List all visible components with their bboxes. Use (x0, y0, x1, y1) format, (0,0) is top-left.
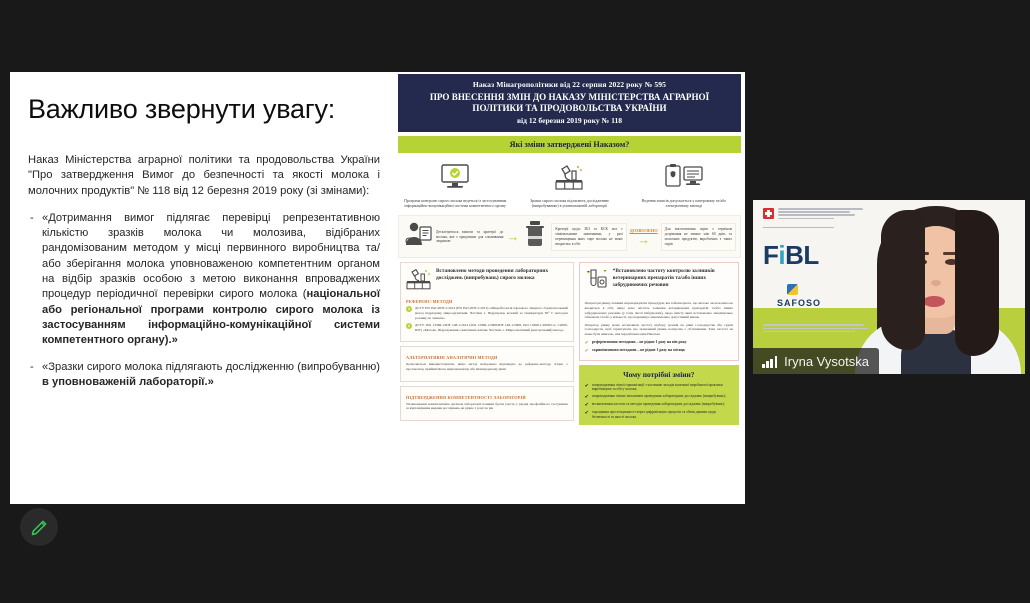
flow-arrow-1: → (506, 230, 519, 243)
flow-box-middle: Критерії щодо ЗБЗ та КСК мог є мінімальн… (551, 223, 626, 250)
infographic-three-columns: Програма контролю сирого молока ведеться… (398, 153, 741, 213)
clipboard-monitor-icon (629, 159, 739, 195)
participant-video-tile[interactable]: FiBL SAFOSO (753, 200, 1025, 374)
check-icon: ✔ (585, 340, 589, 346)
infographic-lower-section: Встановлено методи проведення лабораторн… (398, 262, 741, 425)
presentation-slide: Важливо звернути увагу: Наказ Міністерст… (10, 72, 745, 504)
bullet-text-bold: в уповноваженій лабораторії.» (42, 376, 214, 388)
list-item: 1 ДСТУ EN ISO 4833-1:2014 (EN ISO 4833-1… (406, 306, 568, 320)
frequency-card: *Встановлено частоту контролю залишків в… (579, 262, 739, 360)
infographic-column-3: Ведення записів допускається у паперовом… (629, 159, 739, 209)
monitor-check-icon (400, 159, 510, 195)
signal-bars-icon (762, 355, 777, 368)
infographic-lower-left: Встановлено методи проведення лабораторн… (400, 262, 574, 425)
swiss-confederation-text (778, 208, 868, 221)
methods-card-title: Встановлено методи проведення лабораторн… (436, 268, 568, 282)
nose (931, 280, 941, 286)
slide-bullet-list: «Дотримання вимог підлягає перевірці реп… (28, 211, 380, 390)
frequency-card-header: *Встановлено частоту контролю залишків в… (585, 268, 733, 297)
swiss-confederation-block (763, 208, 868, 221)
infographic-header-line3: від 12 березня 2019 року № 118 (406, 116, 733, 125)
frequency-check-text: скринінговими методами – не рідше 1 разу… (592, 348, 685, 353)
check-icon: ✔ (585, 383, 589, 389)
infographic-flow-row: Деталізуються вимоги та критерії до моло… (398, 215, 741, 258)
list-item: ✔ референтними методами – не рідше 1 раз… (585, 340, 733, 346)
frequency-check-text: референтними методами – не рідше 1 разу … (592, 340, 687, 345)
check-icon: ✔ (585, 394, 589, 400)
allowed-label-group: ДОЗВОЛЕНО → (630, 228, 658, 246)
why-item-text: встановлення частоти та методів проведен… (592, 402, 725, 407)
infographic-header: Наказ Мінагрополітики від 22 серпня 2022… (398, 74, 741, 132)
lab-bench-icon (406, 268, 432, 295)
reference-method-text: ДСТУ ISO 13366-1/IDF 148-1:2014 (ISO 133… (415, 323, 568, 332)
infographic-column-3-caption: Ведення записів допускається у паперовом… (629, 199, 739, 209)
list-item: ✔ спрощення простежуваності через цифров… (585, 410, 733, 419)
frequency-paragraph-2: Оператор ринку може встановити частоту в… (585, 323, 733, 337)
participant-name-label: Iryna Vysotska (784, 354, 869, 369)
methods-card: Встановлено методи проведення лабораторн… (400, 262, 574, 342)
participant-name-badge: Iryna Vysotska (753, 348, 879, 374)
infographic-question-bar: Які зміни затверджені Наказом? (398, 136, 741, 153)
list-item: ✔ запровадження чітких механізмів провед… (585, 394, 733, 400)
slide-intro-paragraph: Наказ Міністерства аграрної політики та … (28, 153, 380, 199)
hair-strand-left (881, 210, 925, 350)
list-item: ✔ запровадження чіткої гармонізації з ча… (585, 383, 733, 392)
why-changes-card: Чому потрібні зміни? ✔ запровадження чіт… (579, 365, 739, 426)
vial-control-icon (585, 268, 609, 297)
alt-methods-heading: АЛЬТЕРНАТИВНІ АНАЛІТИЧНІ МЕТОДИ (406, 355, 568, 360)
list-item: «Дотримання вимог підлягає перевірці реп… (28, 211, 380, 349)
why-changes-title: Чому потрібні зміни? (585, 370, 733, 379)
list-item: «Зразки сирого молока підлягають дослідж… (28, 360, 380, 391)
list-number-badge: 1 (406, 306, 412, 312)
check-icon: ✔ (585, 410, 589, 416)
safoso-mark-icon (787, 284, 798, 295)
frequency-paragraph-1: Оператори ринку повинні впроваджувати пр… (585, 301, 733, 319)
inspector-icon (403, 221, 433, 252)
hair-strand-right (955, 210, 999, 356)
check-icon: ✔ (585, 348, 589, 354)
reference-methods-heading: РЕФЕРЕНС-МЕТОДИ (406, 299, 568, 304)
check-icon: ✔ (585, 402, 589, 408)
bullet-text-plain: «Зразки сирого молока підлягають дослідж… (42, 361, 380, 373)
lab-competence-text: Уповноважені компетентним органом лабора… (406, 402, 568, 411)
program-description-lines (763, 324, 868, 332)
lips (923, 296, 945, 307)
lab-competence-card: ПІДТВЕРДЖЕННЯ КОМПЕТЕНТНОСТІ ЛАБОРАТОРІЙ… (400, 386, 574, 421)
flow-box-right: Для виготовлення сирів з терміном дозрів… (661, 223, 736, 250)
infographic-header-line1: Наказ Мінагрополітики від 22 серпня 2022… (406, 80, 733, 89)
flow-text-left: Деталізуються вимоги та критерії до моло… (436, 230, 503, 244)
infographic-header-line2: ПРО ВНЕСЕННЯ ЗМІН ДО НАКАЗУ МІНІСТЕРСТВА… (406, 92, 733, 114)
safoso-logo: SAFOSO (763, 284, 835, 308)
safoso-wordmark: SAFOSO (763, 298, 835, 308)
pencil-icon (29, 517, 50, 538)
annotate-button[interactable] (20, 508, 58, 546)
list-item: ✔ скринінговими методами – не рідше 1 ра… (585, 348, 733, 354)
milk-can-icon (522, 220, 548, 253)
list-item: ✔ встановлення частоти та методів провед… (585, 402, 733, 408)
list-item: 2 ДСТУ ISO 13366-1/IDF 148-1:2014 (ISO 1… (406, 323, 568, 332)
why-item-text: запровадження чіткої гармонізації з част… (592, 383, 733, 392)
list-number-badge: 2 (406, 323, 412, 329)
meeting-screen-share-view: Важливо звернути увагу: Наказ Міністерст… (0, 0, 1030, 603)
alt-methods-card: АЛЬТЕРНАТИВНІ АНАЛІТИЧНІ МЕТОДИ Дозволяє… (400, 346, 574, 381)
methods-card-header: Встановлено методи проведення лабораторн… (406, 268, 568, 295)
slide-left-column: Важливо звернути увагу: Наказ Міністерст… (10, 72, 394, 504)
flow-arrow-2: → (630, 233, 658, 246)
page-title: Важливо звернути увагу: (28, 94, 380, 125)
lab-competence-heading: ПІДТВЕРДЖЕННЯ КОМПЕТЕНТНОСТІ ЛАБОРАТОРІЙ (406, 395, 568, 400)
infographic-column-2: Зразки сирого молока підлягають дослідже… (514, 159, 624, 209)
swiss-flag-icon (763, 208, 774, 219)
why-item-text: спрощення простежуваності через цифровіз… (592, 410, 733, 419)
infographic-column-1: Програма контролю сирого молока ведеться… (400, 159, 510, 209)
why-item-text: запровадження чітких механізмів проведен… (592, 394, 726, 399)
reference-method-text: ДСТУ EN ISO 4833-1:2014 (EN ISO 4833-1:2… (415, 306, 568, 320)
lab-microscope-icon (514, 159, 624, 195)
infographic-lower-right: *Встановлено частоту контролю залишків в… (579, 262, 739, 425)
alt-methods-text: Дозволяється використовувати, якщо метод… (406, 362, 568, 371)
participant-portrait (861, 200, 1011, 374)
frequency-card-title: *Встановлено частоту контролю залишків в… (613, 268, 733, 289)
agency-line (763, 227, 834, 229)
slide-body: Наказ Міністерства аграрної політики та … (28, 153, 380, 390)
branding-block: FiBL SAFOSO (763, 208, 868, 334)
infographic-column-1-caption: Програма контролю сирого молока ведеться… (400, 199, 510, 209)
slide-infographic: Наказ Мінагрополітики від 22 серпня 2022… (394, 72, 745, 504)
fibl-logo: FiBL (763, 242, 868, 268)
infographic-column-2-caption: Зразки сирого молока підлягають дослідже… (514, 199, 624, 209)
